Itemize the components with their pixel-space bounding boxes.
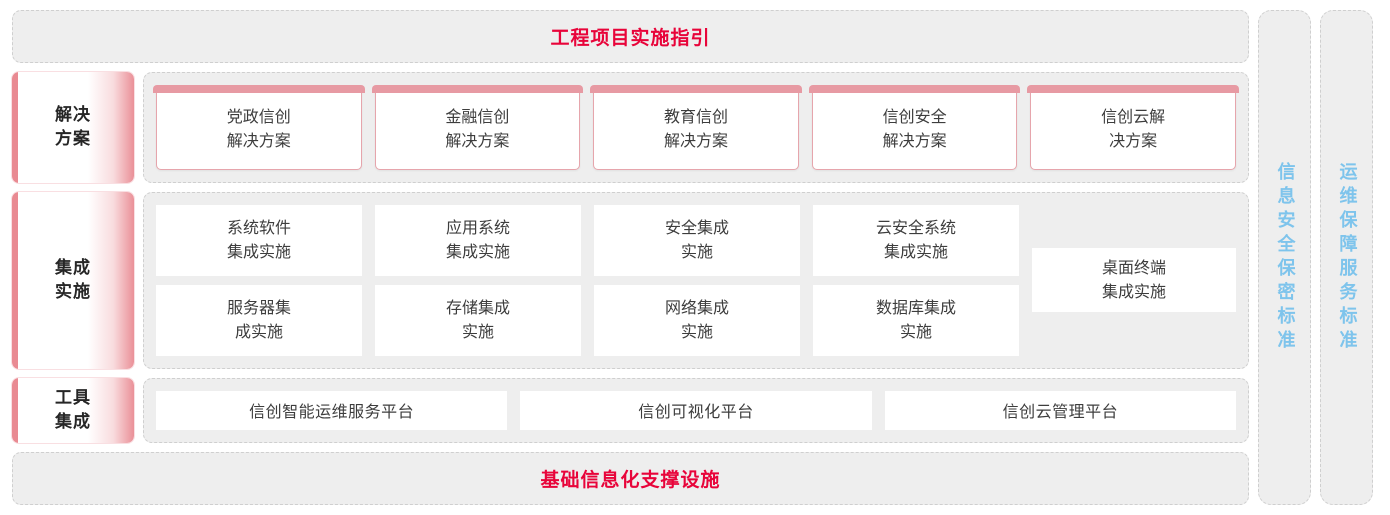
row-label-tools: 工具 集成	[12, 378, 134, 443]
integration-card-security-label: 安全集成 实施	[665, 216, 729, 264]
standard-column-ops-service-label: 运维保障服务标准	[1338, 162, 1356, 354]
integration-card-network-label: 网络集成 实施	[665, 296, 729, 344]
diagram-root: 工程项目实施指引 解决 方案 党政信创 解决方案	[0, 0, 1390, 515]
solution-card-security-label: 信创安全 解决方案	[883, 105, 947, 153]
integration-card-storage-line1: 存储集成	[446, 298, 510, 317]
integration-card-desktop-terminal-line2: 集成实施	[1102, 282, 1166, 301]
solution-card-finance-line2: 解决方案	[445, 131, 509, 150]
integration-card-application-system-label: 应用系统 集成实施	[446, 216, 510, 264]
solution-card-finance-line1: 金融信创	[445, 107, 509, 126]
integration-card-cloud-security-line2: 集成实施	[884, 242, 948, 261]
solution-card-cloud-line1: 信创云解	[1101, 107, 1165, 126]
row-label-solutions-line2: 方案	[55, 129, 91, 149]
tool-card-visualization-platform[interactable]: 信创可视化平台	[520, 391, 871, 430]
row-label-integration: 集成 实施	[12, 192, 134, 369]
solution-card-finance-label: 金融信创 解决方案	[445, 105, 509, 153]
row-label-tools-text: 工具 集成	[55, 386, 91, 435]
solution-card-government-line2: 解决方案	[227, 131, 291, 150]
integration-card-application-system-line1: 应用系统	[446, 218, 510, 237]
panel-tools: 信创智能运维服务平台 信创可视化平台 信创云管理平台	[143, 378, 1249, 443]
integration-card-system-software-label: 系统软件 集成实施	[227, 216, 291, 264]
tools-card-group: 信创智能运维服务平台 信创可视化平台 信创云管理平台	[156, 391, 1236, 430]
solution-card-cloud-line2: 决方案	[1109, 131, 1157, 150]
panel-solutions: 党政信创 解决方案 金融信创 解决方案 教育信创 解决方案	[143, 72, 1249, 182]
row-tools: 工具 集成 信创智能运维服务平台 信创可视化平台 信创云管理平台	[12, 378, 1249, 443]
solution-card-education-line1: 教育信创	[664, 107, 728, 126]
integration-card-desktop-terminal[interactable]: 桌面终端 集成实施	[1032, 248, 1236, 312]
integration-card-system-software[interactable]: 系统软件 集成实施	[156, 205, 362, 276]
footer-title: 基础信息化支撑设施	[540, 465, 720, 492]
integration-card-security-line2: 实施	[681, 242, 713, 261]
integration-grid: 系统软件 集成实施 应用系统 集成实施 安全	[156, 205, 1019, 356]
integration-card-cloud-security[interactable]: 云安全系统 集成实施	[813, 205, 1019, 276]
solutions-card-group: 党政信创 解决方案 金融信创 解决方案 教育信创 解决方案	[156, 85, 1236, 169]
standards-columns: 信息安全保密标准 运维保障服务标准	[1258, 10, 1373, 505]
row-label-integration-line1: 集成	[55, 258, 91, 278]
solution-card-security-line1: 信创安全	[883, 107, 947, 126]
standard-column-infosec-label: 信息安全保密标准	[1276, 162, 1294, 354]
tool-card-aiops-platform[interactable]: 信创智能运维服务平台	[156, 391, 507, 430]
solution-card-security[interactable]: 信创安全 解决方案	[812, 90, 1018, 169]
page-title: 工程项目实施指引	[550, 23, 710, 50]
solution-card-education[interactable]: 教育信创 解决方案	[593, 90, 799, 169]
integration-card-server-line2: 成实施	[235, 322, 283, 341]
row-label-integration-line2: 实施	[55, 282, 91, 302]
row-solutions: 解决 方案 党政信创 解决方案 金融信创 解决方案	[12, 72, 1249, 182]
row-integration: 集成 实施 系统软件 集成实施	[12, 192, 1249, 369]
row-label-solutions: 解决 方案	[12, 72, 134, 182]
integration-card-server-label: 服务器集 成实施	[227, 296, 291, 344]
row-label-tools-line1: 工具	[55, 388, 91, 408]
integration-card-storage[interactable]: 存储集成 实施	[375, 285, 581, 356]
integration-card-application-system[interactable]: 应用系统 集成实施	[375, 205, 581, 276]
integration-card-network-line1: 网络集成	[665, 298, 729, 317]
integration-card-security-line1: 安全集成	[665, 218, 729, 237]
solution-card-education-label: 教育信创 解决方案	[664, 105, 728, 153]
panel-integration: 系统软件 集成实施 应用系统 集成实施 安全	[143, 192, 1249, 369]
solution-card-cloud[interactable]: 信创云解 决方案	[1030, 90, 1236, 169]
solution-card-government-line1: 党政信创	[227, 107, 291, 126]
integration-card-application-system-line2: 集成实施	[446, 242, 510, 261]
integration-side-slot: 桌面终端 集成实施	[1032, 205, 1236, 356]
integration-card-system-software-line2: 集成实施	[227, 242, 291, 261]
integration-card-group: 系统软件 集成实施 应用系统 集成实施 安全	[156, 205, 1236, 356]
row-label-tools-line2: 集成	[55, 412, 91, 432]
integration-card-cloud-security-line1: 云安全系统	[876, 218, 956, 237]
integration-card-database-line1: 数据库集成	[876, 298, 956, 317]
footer-banner: 基础信息化支撑设施	[12, 452, 1249, 505]
integration-card-storage-label: 存储集成 实施	[446, 296, 510, 344]
solution-card-government-label: 党政信创 解决方案	[227, 105, 291, 153]
tool-card-cloud-management-platform[interactable]: 信创云管理平台	[885, 391, 1236, 430]
integration-card-security[interactable]: 安全集成 实施	[594, 205, 800, 276]
standard-column-ops-service: 运维保障服务标准	[1320, 10, 1373, 505]
integration-card-database[interactable]: 数据库集成 实施	[813, 285, 1019, 356]
solution-card-cloud-label: 信创云解 决方案	[1101, 105, 1165, 153]
integration-card-desktop-terminal-line1: 桌面终端	[1102, 258, 1166, 277]
integration-card-database-line2: 实施	[900, 322, 932, 341]
row-label-solutions-line1: 解决	[55, 105, 91, 125]
solution-card-finance[interactable]: 金融信创 解决方案	[375, 90, 581, 169]
row-label-solutions-text: 解决 方案	[55, 103, 91, 152]
integration-card-storage-line2: 实施	[462, 322, 494, 341]
integration-card-network-line2: 实施	[681, 322, 713, 341]
integration-card-server-line1: 服务器集	[227, 298, 291, 317]
solution-card-education-line2: 解决方案	[664, 131, 728, 150]
solution-card-security-line2: 解决方案	[883, 131, 947, 150]
integration-card-desktop-terminal-label: 桌面终端 集成实施	[1102, 256, 1166, 304]
integration-card-system-software-line1: 系统软件	[227, 218, 291, 237]
integration-card-network[interactable]: 网络集成 实施	[594, 285, 800, 356]
integration-card-database-label: 数据库集成 实施	[876, 296, 956, 344]
integration-card-server[interactable]: 服务器集 成实施	[156, 285, 362, 356]
header-banner: 工程项目实施指引	[12, 10, 1249, 63]
row-label-integration-text: 集成 实施	[55, 256, 91, 305]
standard-column-infosec: 信息安全保密标准	[1258, 10, 1311, 505]
solution-card-government[interactable]: 党政信创 解决方案	[156, 90, 362, 169]
integration-card-cloud-security-label: 云安全系统 集成实施	[876, 216, 956, 264]
main-column: 工程项目实施指引 解决 方案 党政信创 解决方案	[12, 10, 1249, 505]
